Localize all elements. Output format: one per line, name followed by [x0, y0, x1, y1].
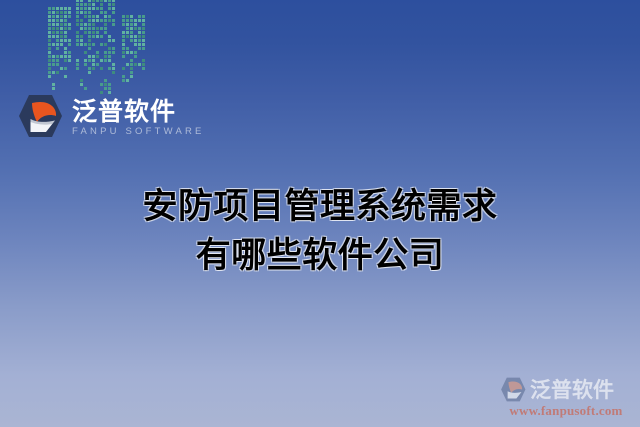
skyline-left-tower [48, 7, 73, 94]
fanpu-hexagon-swoosh-icon [17, 94, 63, 138]
page-title-line-2: 有哪些软件公司 [0, 232, 640, 281]
page-title-line-1: 安防项目管理系统需求 [0, 183, 640, 232]
skyline-mid-tower [76, 0, 118, 94]
brand-logo-text: 泛普软件 FANPU SOFTWARE [72, 96, 205, 137]
watermark-brand-name: 泛普软件 [530, 378, 614, 402]
page-title: 安防项目管理系统需求 有哪些软件公司 [0, 183, 640, 281]
brand-name-en: FANPU SOFTWARE [72, 126, 205, 137]
brand-logo: 泛普软件 FANPU SOFTWARE [17, 94, 205, 138]
watermark: 泛普软件 www.fanpusoft.com [500, 377, 632, 418]
skyline-right-tower [122, 15, 148, 94]
fanpu-hexagon-swoosh-icon [500, 377, 526, 402]
watermark-url: www.fanpusoft.com [500, 403, 632, 418]
brand-name-cn: 泛普软件 [72, 98, 205, 125]
watermark-logo-row: 泛普软件 [500, 377, 632, 402]
pixel-city-skyline-icon [48, 2, 148, 94]
promo-slide: 泛普软件 FANPU SOFTWARE 安防项目管理系统需求 有哪些软件公司 泛… [0, 0, 640, 427]
